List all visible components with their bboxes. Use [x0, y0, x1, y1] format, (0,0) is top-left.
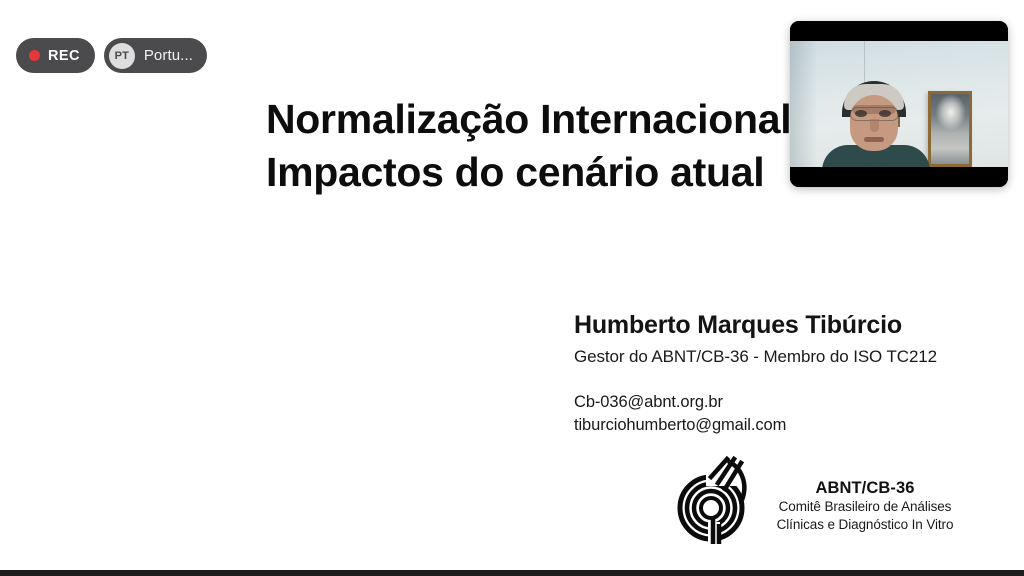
recording-label: REC	[48, 48, 80, 64]
organization-footer: ABNT/CB-36 Comitê Brasileiro de Análises…	[672, 456, 982, 548]
language-label: Portu...	[144, 47, 193, 64]
presenter-contact: Cb-036@abnt.org.br tiburciohumberto@gmai…	[574, 391, 994, 437]
letterbox-bar-top	[790, 21, 1008, 41]
presenter-info: Humberto Marques Tibúrcio Gestor do ABNT…	[574, 310, 994, 369]
webcam-video-frame	[790, 41, 1008, 167]
person-nose	[870, 119, 879, 132]
organization-code: ABNT/CB-36	[766, 478, 964, 498]
presenter-person	[822, 83, 930, 167]
organization-line-2: Clínicas e Diagnóstico In Vitro	[766, 516, 964, 534]
language-badge[interactable]: PT Portu...	[104, 38, 207, 73]
abnt-spiral-logo-icon	[672, 456, 754, 544]
organization-text: ABNT/CB-36 Comitê Brasileiro de Análises…	[766, 478, 964, 534]
bottom-edge-strip	[0, 570, 1024, 576]
wall-corner-shading	[790, 41, 816, 167]
language-avatar: PT	[109, 43, 135, 69]
slide-title: Normalização Internacional Impactos do c…	[266, 93, 826, 199]
person-mouth	[864, 137, 884, 142]
picture-artwork	[931, 94, 969, 164]
slide-title-line-1: Normalização Internacional	[266, 93, 826, 146]
presenter-role: Gestor do ABNT/CB-36 - Membro do ISO TC2…	[574, 345, 994, 369]
organization-line-1: Comitê Brasileiro de Análises	[766, 498, 964, 516]
presenter-webcam-overlay[interactable]	[790, 21, 1008, 187]
presenter-name: Humberto Marques Tibúrcio	[574, 310, 994, 341]
record-dot-icon	[29, 50, 40, 61]
presenter-email-secondary: tiburciohumberto@gmail.com	[574, 414, 994, 437]
presenter-email-primary: Cb-036@abnt.org.br	[574, 391, 994, 414]
framed-picture	[928, 91, 972, 167]
recording-badge[interactable]: REC	[16, 38, 95, 73]
screen-capture: Normalização Internacional Impactos do c…	[0, 0, 1024, 576]
slide-title-line-2: Impactos do cenário atual	[266, 146, 826, 199]
letterbox-bar-bottom	[790, 167, 1008, 187]
status-badge-bar: REC PT Portu...	[16, 38, 207, 73]
